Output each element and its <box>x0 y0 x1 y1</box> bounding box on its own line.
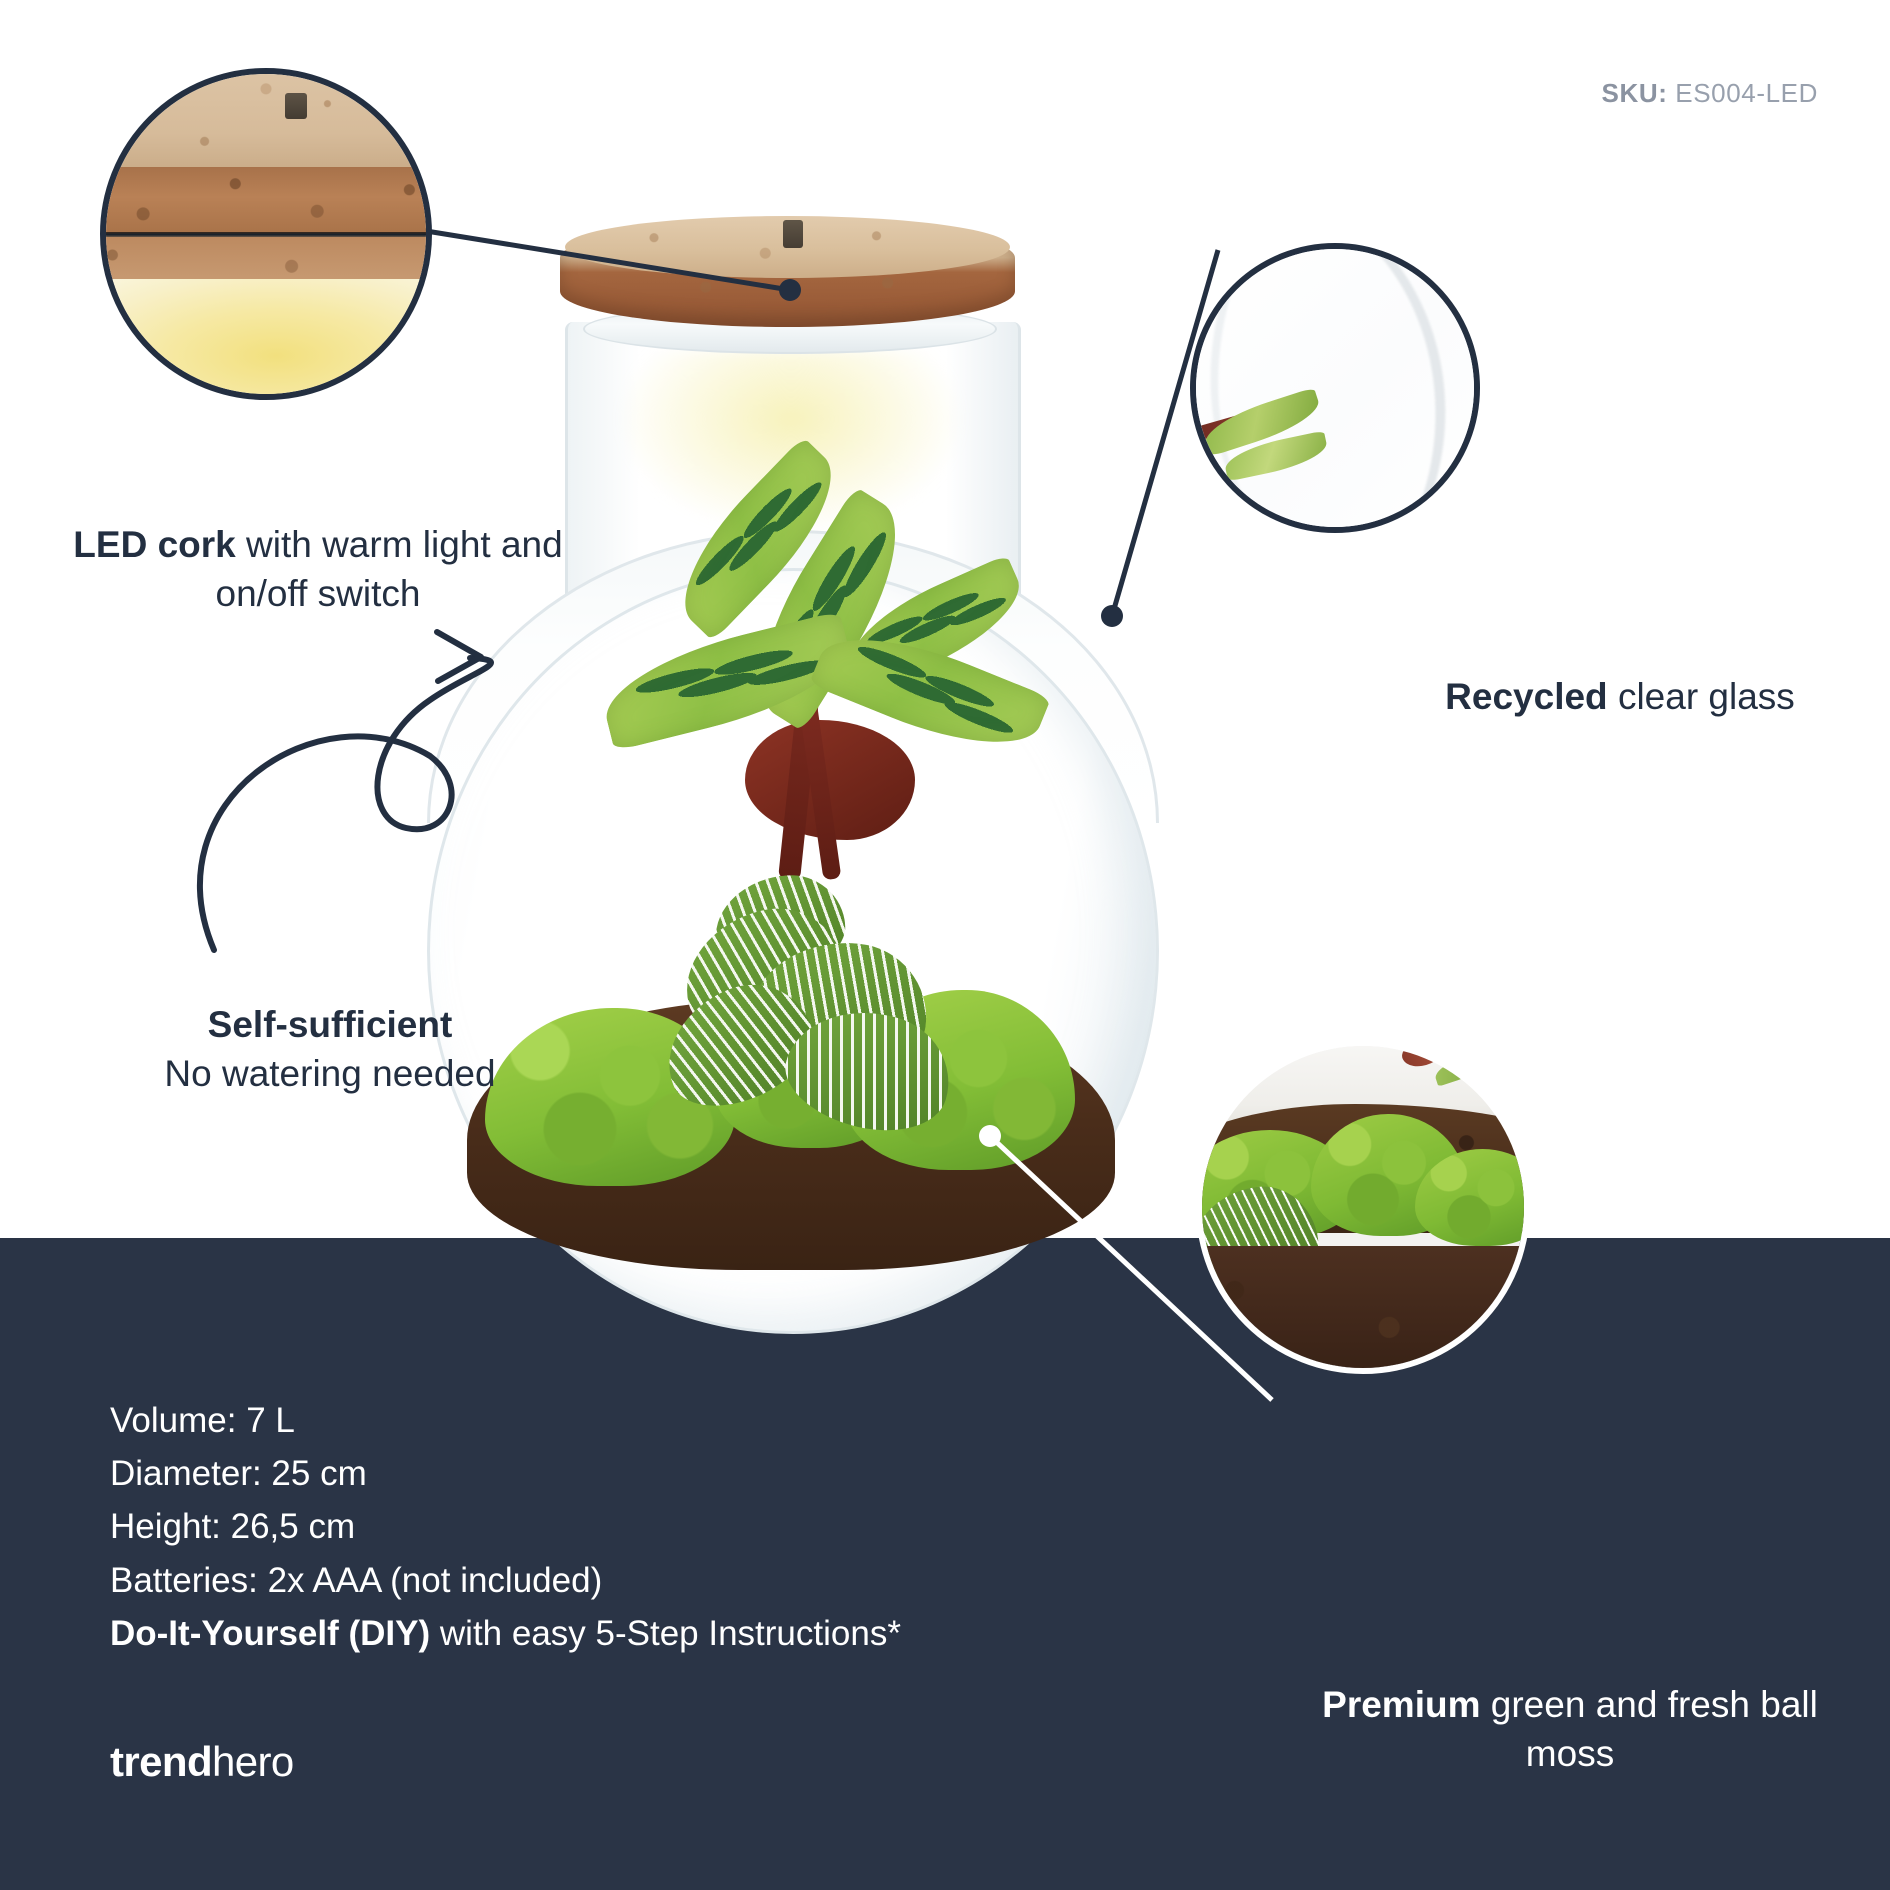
diy-rest: with easy 5-Step Instructions* <box>430 1614 901 1653</box>
led-cork-detail-circle <box>100 68 432 400</box>
self-sufficient-subtitle: No watering needed <box>20 1049 640 1098</box>
cork-texture-top <box>100 74 432 173</box>
specifications-list: Volume: 7 L Diameter: 25 cm Height: 26,5… <box>110 1394 901 1660</box>
self-sufficient-arrow-curve <box>200 658 491 950</box>
led-leader-line <box>420 230 790 290</box>
self-sufficient-bold: Self-sufficient <box>208 1004 453 1045</box>
logo-light-part: hero <box>212 1738 294 1785</box>
soil-foreground <box>1196 1246 1530 1374</box>
led-leader-dot <box>779 279 801 301</box>
spec-line-height: Height: 26,5 cm <box>110 1500 901 1553</box>
brand-logo[interactable]: trendhero <box>110 1738 294 1786</box>
glass-leader-dot <box>1101 605 1123 627</box>
spec-line-batteries: Batteries: 2x AAA (not included) <box>110 1554 901 1607</box>
led-cork-callout-bold: LED cork <box>73 524 235 565</box>
cork-texture-lower <box>100 237 432 282</box>
ball-moss-callout-text: Premium green and fresh ball moss <box>1310 1680 1830 1778</box>
self-sufficient-callout-text: Self-sufficient No watering needed <box>20 1000 640 1098</box>
cork-texture-band <box>100 167 432 234</box>
led-cork-callout-text: LED cork with warm light and on/off swit… <box>28 520 608 618</box>
led-cork-callout-rest: with warm light and on/off switch <box>216 524 563 614</box>
diy-bold: Do-It-Yourself (DIY) <box>110 1614 430 1653</box>
moss-leader-dot <box>979 1125 1001 1147</box>
ball-moss-detail-circle <box>1196 1040 1530 1374</box>
recycled-glass-callout-text: Recycled clear glass <box>1410 672 1830 721</box>
ball-moss-callout-bold: Premium <box>1322 1684 1480 1725</box>
spec-line-volume: Volume: 7 L <box>110 1394 901 1447</box>
infographic-root: SKU: ES004-LED <box>0 0 1890 1890</box>
logo-bold-part: trend <box>110 1738 212 1785</box>
spec-line-diy: Do-It-Yourself (DIY) with easy 5-Step In… <box>110 1607 901 1660</box>
recycled-glass-callout-rest: clear glass <box>1608 676 1795 717</box>
led-switch-nub-icon <box>285 93 307 119</box>
recycled-glass-callout-bold: Recycled <box>1445 676 1608 717</box>
spec-line-diameter: Diameter: 25 cm <box>110 1447 901 1500</box>
self-sufficient-title: Self-sufficient <box>20 1000 640 1049</box>
ball-moss-callout-rest: green and fresh ball moss <box>1481 1684 1818 1774</box>
recycled-glass-detail-circle <box>1190 243 1480 533</box>
warm-led-glow <box>100 279 432 400</box>
